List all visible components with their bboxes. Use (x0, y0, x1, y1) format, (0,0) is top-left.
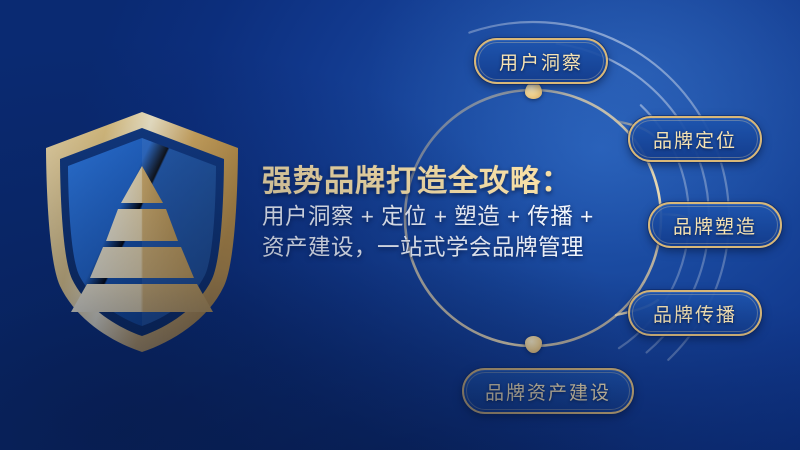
node-pill-brand-positioning[interactable]: 品牌定位 (628, 116, 762, 162)
main-title: 强势品牌打造全攻略： (262, 163, 662, 201)
shield-pyramid-emblem (32, 108, 252, 356)
node-pill-brand-shaping[interactable]: 品牌塑造 (648, 202, 782, 248)
connector-dot-bottom (525, 336, 542, 353)
subtitle-line-2: 资产建设，一站式学会品牌管理 (262, 232, 662, 264)
node-label: 品牌资产建设 (485, 378, 611, 405)
headline-block: 强势品牌打造全攻略： 用户洞察 + 定位 + 塑造 + 传播 + 资产建设，一站… (262, 163, 662, 264)
node-label: 用户洞察 (499, 48, 583, 75)
node-label: 品牌塑造 (673, 212, 757, 239)
node-label: 品牌传播 (653, 300, 737, 327)
node-pill-brand-communication[interactable]: 品牌传播 (628, 290, 762, 336)
poster-canvas: 强势品牌打造全攻略： 用户洞察 + 定位 + 塑造 + 传播 + 资产建设，一站… (0, 0, 800, 450)
node-pill-user-insight[interactable]: 用户洞察 (474, 38, 608, 84)
node-label: 品牌定位 (653, 126, 737, 153)
subtitle-line-1: 用户洞察 + 定位 + 塑造 + 传播 + (262, 201, 662, 233)
shield-graphic (32, 108, 252, 356)
node-pill-brand-asset-building[interactable]: 品牌资产建设 (462, 368, 634, 414)
connector-dot-top (525, 82, 542, 99)
